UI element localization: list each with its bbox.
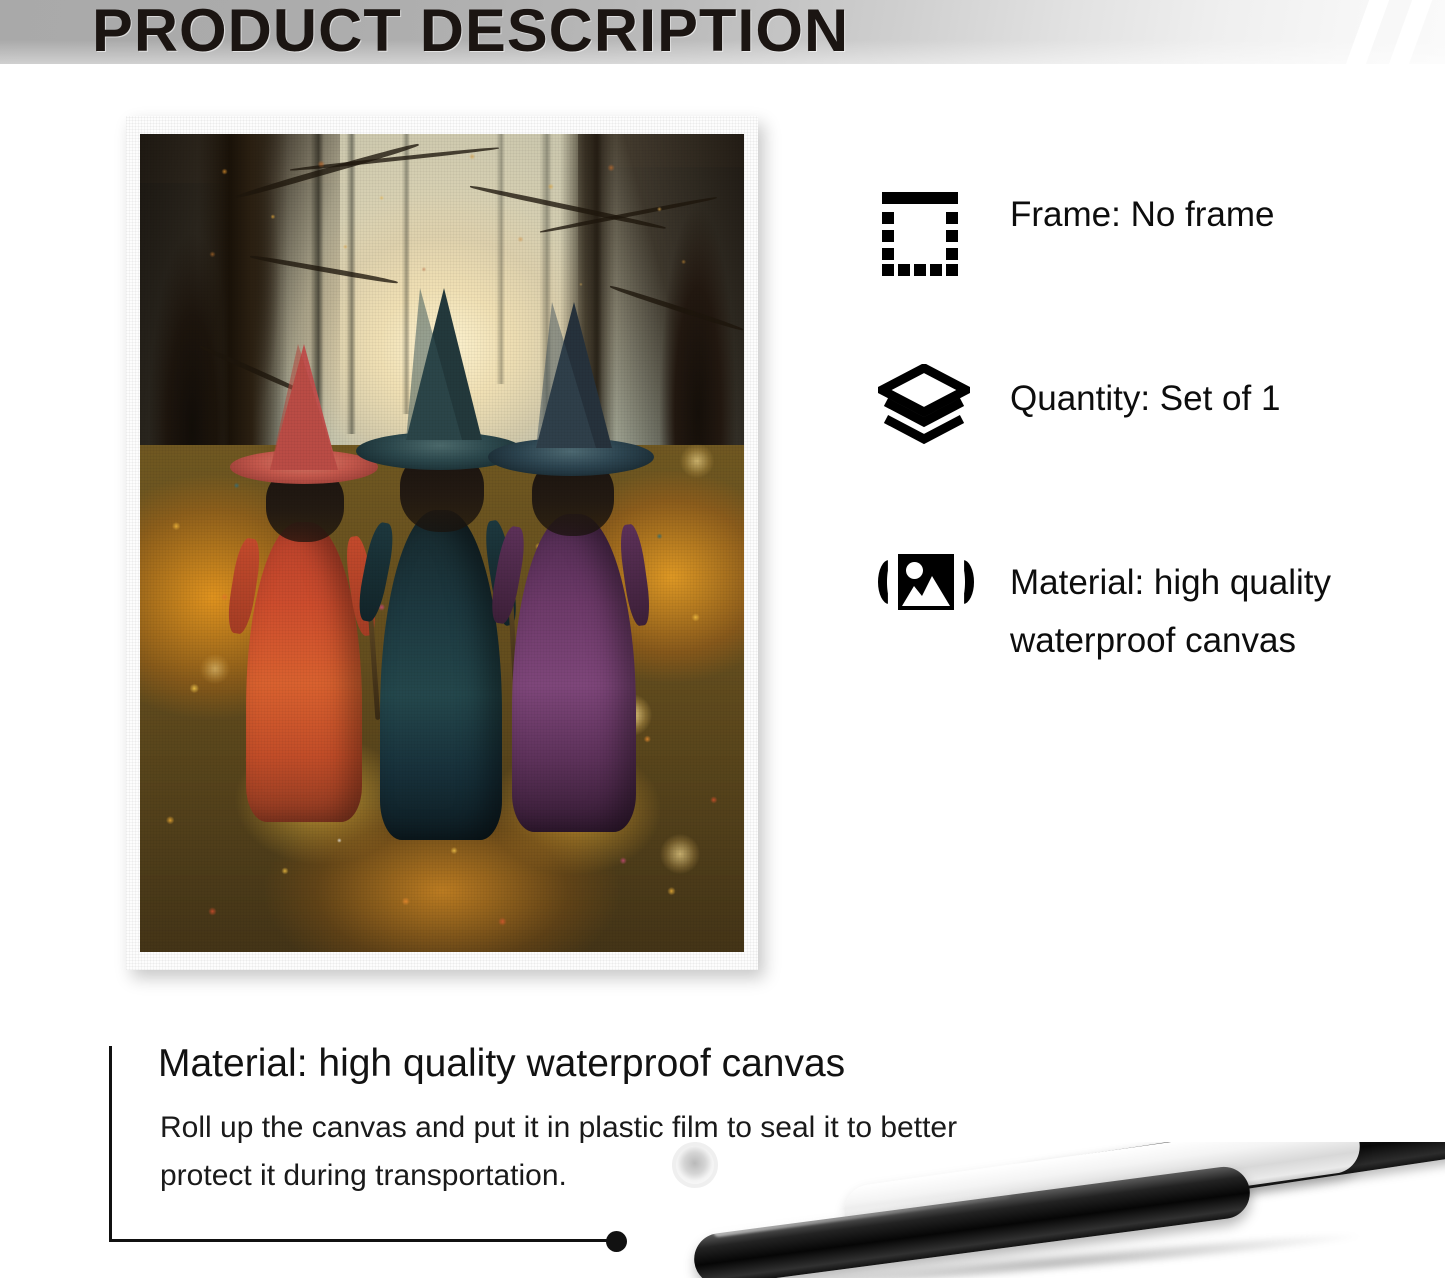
layers-icon-svg	[878, 364, 970, 452]
product-description-page: PRODUCT DESCRIPTION	[0, 0, 1445, 1278]
bottom-heading: Material: high quality waterproof canvas	[158, 1038, 845, 1090]
layers-icon	[876, 364, 972, 452]
gown	[246, 522, 362, 822]
bracket-horizontal-line	[109, 1239, 619, 1242]
canvas-artwork-card	[126, 116, 758, 970]
spec-label-frame: Frame: No frame	[1010, 180, 1275, 244]
spec-row-frame: Frame: No frame	[876, 180, 1416, 268]
tree-branch	[540, 196, 717, 234]
hat-cone-shade	[536, 302, 596, 448]
tree-branch	[609, 284, 744, 332]
spec-label-quantity: Quantity: Set of 1	[1010, 364, 1280, 428]
picture-icon	[876, 548, 972, 636]
bracket-end-dot	[606, 1231, 627, 1252]
frame-icon	[876, 180, 972, 268]
tree-branch	[235, 142, 419, 200]
painting-image	[140, 134, 744, 952]
header-slash-icon	[1383, 0, 1438, 64]
rolled-canvas-photo	[672, 1142, 1445, 1278]
header-slash-icon	[1340, 0, 1395, 64]
spec-row-material: Material: high quality waterproof canvas	[876, 548, 1416, 670]
tree-branch	[469, 184, 666, 230]
gown	[380, 510, 502, 840]
white-roll-open-end	[672, 1142, 721, 1191]
tree-branch	[250, 254, 399, 285]
spec-list: Frame: No frame Quantity: Set of 1	[876, 180, 1416, 766]
picture-mountain-shape	[902, 574, 950, 606]
spec-label-material: Material: high quality waterproof canvas	[1010, 548, 1410, 670]
tree-branch	[290, 146, 499, 172]
bracket-vertical-line	[109, 1046, 112, 1242]
spec-row-quantity: Quantity: Set of 1	[876, 364, 1416, 452]
gown	[512, 514, 636, 832]
hat-cone-shade	[406, 288, 462, 440]
page-title: PRODUCT DESCRIPTION	[92, 0, 849, 65]
hat-cone-shade	[270, 344, 338, 470]
witch-figure-purple	[486, 348, 696, 878]
